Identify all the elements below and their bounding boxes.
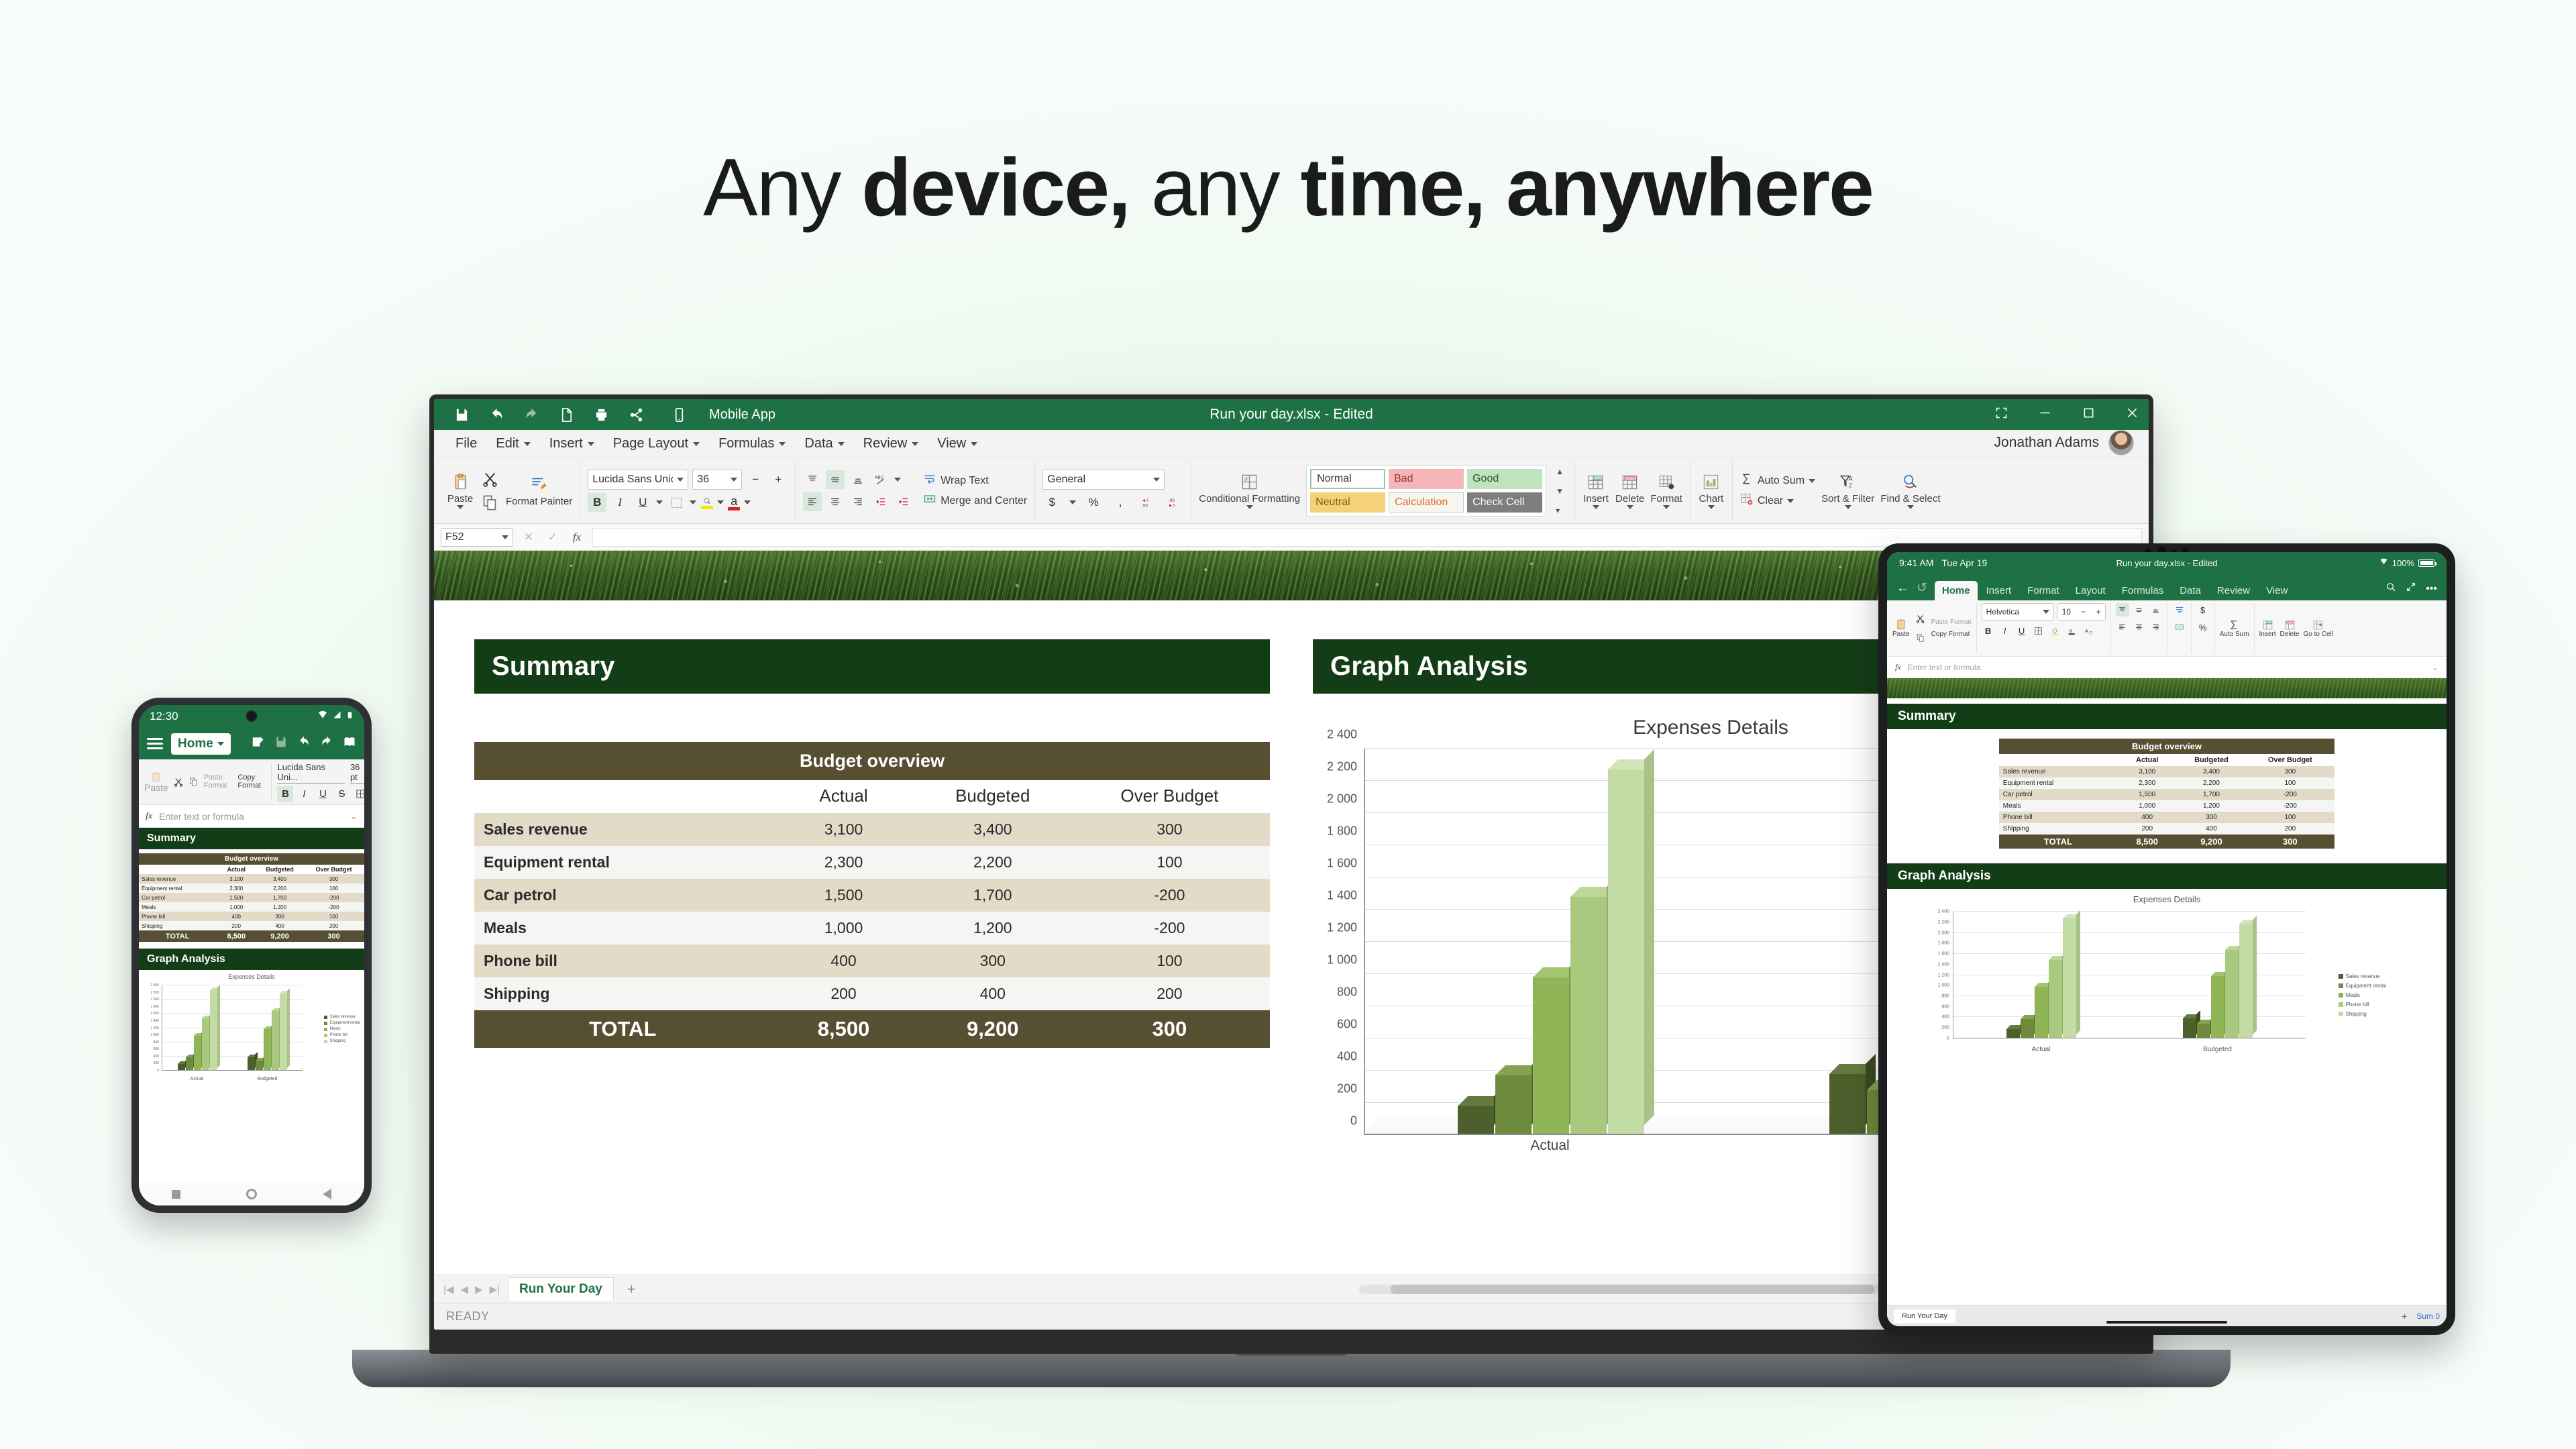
number-format-value: General — [1047, 474, 1085, 486]
menu-formulas[interactable]: Formulas — [710, 433, 794, 454]
edit-mode-icon[interactable] — [252, 735, 265, 752]
chevron-down-icon[interactable] — [656, 500, 663, 504]
headline-part-1: Any — [703, 142, 861, 233]
mobile-icon[interactable] — [670, 406, 688, 423]
style-good[interactable]: Good — [1467, 469, 1542, 489]
undo-icon[interactable] — [297, 735, 311, 752]
tablet-fx-icon[interactable]: fx — [1895, 662, 1901, 672]
tablet-table-row: Shipping200400200 — [1999, 823, 2334, 835]
total-actual: 8,500 — [771, 1010, 916, 1048]
tablet-fill-color-icon[interactable] — [2049, 624, 2062, 637]
bold-button[interactable]: B — [588, 493, 606, 512]
delete-cells-button[interactable]: Delete — [1615, 472, 1644, 510]
cell-over: -200 — [1069, 912, 1270, 945]
more-icon[interactable]: ••• — [2426, 583, 2437, 595]
tablet-cut-icon[interactable] — [1914, 612, 1927, 626]
tablet-font-size-stepper[interactable]: 10 − + — [2057, 603, 2106, 621]
chevron-down-icon[interactable] — [690, 500, 696, 504]
summary-section-header: Summary — [474, 639, 1270, 694]
y-tick: 2 000 — [1937, 930, 1949, 935]
find-select-icon — [1900, 472, 1921, 492]
phone-expenses-chart: Expenses Details 2 400 2 200 2 000 1 800… — [139, 973, 364, 1091]
insert-cells-label: Insert — [1583, 494, 1609, 504]
tablet-font-family-select[interactable]: Helvetica — [1982, 603, 2054, 621]
style-calculation[interactable]: Calculation — [1389, 492, 1464, 513]
undo-icon[interactable] — [488, 406, 505, 423]
auto-sum-label: Auto Sum — [1758, 475, 1805, 487]
last-sheet-icon[interactable]: ▶| — [490, 1283, 500, 1295]
cell-budgeted: 1,200 — [2177, 800, 2245, 812]
menu-icon[interactable] — [147, 738, 163, 749]
y-tick: 1 400 — [1327, 889, 1357, 903]
sheet-nav-arrows[interactable]: |◀ ◀ ▶ ▶| — [443, 1283, 500, 1295]
cell-budgeted: 3,400 — [916, 813, 1069, 846]
paste-icon — [450, 472, 470, 492]
headline-bold-1: device, — [861, 142, 1130, 233]
svg-text:Z: Z — [1849, 482, 1853, 489]
conditional-formatting-button[interactable]: ≠ Conditional Formatting — [1199, 472, 1300, 510]
underline-button[interactable]: U — [633, 493, 652, 512]
phone-underline-button[interactable]: U — [315, 786, 331, 802]
y-tick: 800 — [1337, 985, 1357, 1000]
back-triangle-icon[interactable] — [323, 1189, 331, 1199]
row-label: Phone bill — [474, 945, 771, 977]
phone-chart-legend: Sales revenue Equipment rental Meals Pho… — [324, 1015, 360, 1043]
tablet-underline-button[interactable]: U — [2015, 624, 2029, 637]
total-label: TOTAL — [139, 930, 216, 942]
wifi-icon — [317, 710, 328, 724]
y-tick: 800 — [154, 1040, 159, 1044]
close-icon[interactable] — [2125, 406, 2139, 423]
tablet-autosum-button[interactable]: Auto Sum — [2220, 619, 2249, 638]
cell-actual: 3,100 — [216, 874, 256, 883]
decrease-font-size-button[interactable]: − — [746, 470, 765, 489]
phone-copy-icon[interactable] — [189, 774, 199, 790]
save-icon[interactable] — [274, 735, 288, 752]
mobile-app-label: Mobile App — [709, 407, 775, 423]
chevron-down-icon — [2043, 610, 2049, 614]
chevron-down-icon[interactable]: ⌄ — [2432, 663, 2438, 672]
menu-data-label: Data — [804, 436, 833, 451]
increase-decimal-icon[interactable]: .00►0 — [1165, 493, 1183, 512]
tablet-tab-data[interactable]: Data — [2172, 581, 2208, 600]
style-neutral[interactable]: Neutral — [1310, 492, 1385, 513]
save-icon[interactable] — [453, 406, 470, 423]
row-label: Equipment rental — [139, 883, 216, 893]
tablet-goto-cell-button[interactable]: Go to Cell — [2303, 619, 2332, 638]
merge-center-button[interactable]: Merge and Center — [923, 492, 1027, 509]
menu-edit-label: Edit — [496, 436, 519, 451]
format-cells-button[interactable]: Format — [1650, 472, 1682, 510]
phone-font-family[interactable]: Lucida Sans Uni... — [277, 762, 344, 784]
align-top-icon[interactable] — [803, 470, 822, 489]
menu-edit[interactable]: Edit — [488, 433, 538, 454]
align-right-icon[interactable] — [849, 492, 867, 511]
text-orientation-icon[interactable]: ABC — [871, 470, 890, 489]
total-actual: 8,500 — [2117, 835, 2178, 849]
phone-table-row: Car petrol1,5001,700-200 — [139, 893, 364, 902]
tablet-tab-insert[interactable]: Insert — [1979, 581, 2019, 600]
delete-cells-icon — [1620, 472, 1640, 492]
phone-paste-button[interactable]: Paste — [144, 771, 168, 793]
y-tick: 800 — [1941, 994, 1949, 999]
cut-icon[interactable] — [480, 469, 500, 489]
y-tick: 400 — [1941, 1015, 1949, 1020]
first-sheet-icon[interactable]: |◀ — [443, 1283, 453, 1295]
style-bad[interactable]: Bad — [1389, 469, 1464, 489]
svg-text:ABC: ABC — [875, 475, 884, 480]
undo-icon[interactable]: ↺ — [1917, 580, 1933, 600]
chevron-down-icon — [779, 442, 786, 446]
bar-shipping — [2239, 924, 2253, 1038]
bar-meals — [2035, 987, 2048, 1038]
cell-over: 300 — [303, 874, 364, 883]
phone-table-caption: Budget overview — [139, 853, 364, 865]
tablet-font-size-value: 10 — [2062, 607, 2071, 616]
cell-actual: 1,500 — [2117, 789, 2178, 800]
table-row: Sales revenue 3,100 3,400 300 — [474, 813, 1270, 846]
tablet-chart-title: Expenses Details — [1887, 894, 2447, 904]
tablet-percent-button[interactable]: % — [2196, 621, 2210, 634]
cell-actual: 1,000 — [2117, 800, 2178, 812]
cell-budgeted: 2,200 — [916, 846, 1069, 879]
row-label: Meals — [139, 902, 216, 912]
expand-icon[interactable] — [2406, 582, 2416, 596]
y-tick: 200 — [154, 1061, 159, 1065]
tablet-font-decrease[interactable]: − — [2081, 607, 2086, 616]
cell-budgeted: 400 — [2177, 823, 2245, 835]
phone-borders-icon[interactable] — [352, 786, 364, 802]
total-budgeted: 9,200 — [2177, 835, 2245, 849]
chevron-down-icon[interactable]: ⌄ — [350, 810, 358, 822]
tablet-home-indicator[interactable] — [2106, 1321, 2227, 1324]
number-format-select[interactable]: General — [1042, 470, 1165, 490]
y-tick: 2 400 — [1327, 728, 1357, 742]
tablet-bottom-bar: Run Your Day + Sum 0 — [1887, 1305, 2447, 1326]
insert-cells-button[interactable]: Insert — [1582, 472, 1609, 510]
table-corner — [474, 780, 771, 813]
wrap-text-button[interactable]: Wrap Text — [923, 472, 1027, 489]
phone-status-bar: 12:30 — [139, 705, 364, 728]
tablet-delete-button[interactable]: Delete — [2280, 619, 2300, 638]
row-label: Car petrol — [1999, 789, 2117, 800]
tablet-align-center-icon[interactable] — [2133, 620, 2146, 633]
insert-function-icon[interactable]: fx — [568, 531, 586, 544]
tablet-sum-indicator: Sum 0 — [2416, 1311, 2440, 1321]
chart-icon — [1701, 472, 1721, 492]
italic-button[interactable]: I — [610, 493, 629, 512]
chevron-down-icon[interactable] — [894, 478, 901, 482]
chevron-down-icon — [588, 442, 594, 446]
tablet-formula-input[interactable]: Enter text or formula — [1908, 663, 2425, 672]
phone-copy-format-button[interactable]: Copy Format — [237, 774, 266, 790]
phone-paste-format-button[interactable]: Paste Format — [204, 774, 233, 790]
tablet-insert-button[interactable]: Insert — [2259, 619, 2276, 638]
cell-actual: 400 — [216, 912, 256, 921]
row-label: Equipment rental — [474, 846, 771, 879]
tablet-align-top-icon[interactable] — [2116, 603, 2129, 616]
y-tick: 2 200 — [1327, 759, 1357, 773]
redo-icon[interactable] — [320, 735, 333, 752]
tablet-add-sheet-button[interactable]: + — [2402, 1311, 2416, 1322]
svg-text:◄0: ◄0 — [1142, 498, 1149, 503]
y-tick: 1 200 — [1327, 921, 1357, 935]
cell-over: 100 — [1069, 945, 1270, 977]
tablet-align-bottom-icon[interactable] — [2149, 603, 2163, 616]
tablet-wrap-text-icon[interactable] — [2173, 603, 2186, 616]
summary-panel: Summary Budget overview Actual Budgeted … — [474, 639, 1270, 1158]
legend-item: Phone bill — [2346, 1002, 2369, 1008]
chevron-down-icon — [677, 478, 684, 482]
cell-over: -200 — [303, 893, 364, 902]
copy-icon[interactable] — [480, 492, 500, 513]
cell-budgeted: 2,200 — [256, 883, 303, 893]
tablet-borders-icon[interactable] — [2032, 624, 2045, 637]
menu-page-layout[interactable]: Page Layout — [605, 433, 708, 454]
tablet-bold-button[interactable]: B — [1982, 624, 1995, 637]
add-sheet-button[interactable]: + — [622, 1281, 641, 1298]
tablet-table-row: Meals1,0001,200-200 — [1999, 800, 2334, 812]
increase-font-size-button[interactable]: + — [769, 470, 788, 489]
cancel-formula-icon[interactable]: ✕ — [520, 531, 537, 544]
font-family-select[interactable]: Lucida Sans Unico — [588, 470, 688, 490]
col-over: Over Budget — [1069, 780, 1270, 813]
tablet-copy-format-button[interactable]: Copy Format — [1931, 631, 1972, 638]
prev-sheet-icon[interactable]: ◀ — [460, 1283, 468, 1295]
sheet-tab-run-your-day[interactable]: Run Your Day — [508, 1277, 614, 1301]
menu-file[interactable]: File — [447, 433, 485, 454]
search-icon[interactable] — [2385, 582, 2396, 596]
bar-equipment-rental — [186, 1057, 193, 1071]
clear-button[interactable]: Clear — [1740, 492, 1815, 509]
tablet-align-right-icon[interactable] — [2149, 620, 2163, 633]
tablet-copy-icon[interactable] — [1914, 631, 1927, 645]
tablet-goto-cell-label: Go to Cell — [2303, 631, 2332, 638]
bar-sales-revenue — [1829, 1074, 1866, 1135]
bar-sales-revenue — [2183, 1018, 2196, 1038]
gallery-down-icon[interactable]: ▼ — [1556, 486, 1564, 496]
phone-summary-header: Summary — [139, 828, 364, 849]
ribbon-group-styles: ≠ Conditional Formatting Normal Bad Good… — [1191, 462, 1575, 520]
tablet-table-row: Sales revenue3,1003,400300 — [1999, 766, 2334, 777]
cell-over: 200 — [1069, 977, 1270, 1010]
phone-col-budgeted: Budgeted — [256, 865, 303, 874]
comma-button[interactable]: , — [1111, 493, 1130, 512]
sigma-icon — [1740, 472, 1754, 489]
currency-button[interactable]: $ — [1042, 493, 1061, 512]
back-arrow-icon[interactable]: ← — [1896, 581, 1915, 600]
phone-tab-home-label: Home — [178, 737, 213, 751]
ribbon-group-font: Lucida Sans Unico 36 − + B — [580, 462, 796, 520]
print-icon[interactable] — [592, 406, 610, 423]
redo-icon[interactable] — [523, 406, 540, 423]
decrease-indent-icon[interactable] — [871, 492, 890, 511]
tablet-col-budgeted: Budgeted — [2177, 754, 2245, 766]
cell-budgeted: 1,700 — [2177, 789, 2245, 800]
tablet-budget-table: Budget overview Actual Budgeted Over Bud… — [1999, 739, 2334, 849]
phone-table-row: Shipping200400200 — [139, 921, 364, 930]
col-actual: Actual — [771, 780, 916, 813]
wifi-icon — [2379, 557, 2388, 568]
menu-review[interactable]: Review — [855, 433, 927, 454]
row-label: Phone bill — [139, 912, 216, 921]
restore-icon[interactable] — [2082, 406, 2096, 423]
tablet-tab-home[interactable]: Home — [1935, 581, 1978, 600]
phone-cut-icon[interactable] — [173, 774, 184, 790]
chart-y-axis: 0 200 400 600 800 1 000 1 200 1 400 1 60… — [1313, 749, 1361, 1135]
next-sheet-icon[interactable]: ▶ — [475, 1283, 483, 1295]
y-tick: 0 — [157, 1069, 159, 1073]
total-over: 300 — [303, 930, 364, 942]
tablet-font-color-icon[interactable]: a — [2065, 624, 2079, 637]
decrease-decimal-icon[interactable]: ◄0.00 — [1138, 493, 1157, 512]
phone-graph-header: Graph Analysis — [139, 949, 364, 970]
svg-text:►0: ►0 — [1169, 504, 1176, 508]
tablet-sheet-tab[interactable]: Run Your Day — [1894, 1309, 1955, 1323]
phone-italic-button[interactable]: I — [296, 786, 312, 802]
style-check-cell[interactable]: Check Cell — [1467, 492, 1542, 513]
name-box-value: F52 — [445, 531, 464, 543]
chevron-down-icon — [693, 442, 700, 446]
tablet-tab-view[interactable]: View — [2259, 581, 2295, 600]
row-label: Meals — [474, 912, 771, 945]
share-icon[interactable] — [627, 406, 645, 423]
cell-over: 200 — [303, 921, 364, 930]
delete-cells-label: Delete — [1615, 494, 1644, 504]
avatar[interactable] — [2108, 430, 2134, 455]
legend-item: Phone bill — [330, 1033, 347, 1037]
phone-status-icons — [317, 710, 354, 724]
chevron-down-icon[interactable] — [717, 500, 724, 504]
percent-button[interactable]: % — [1084, 493, 1103, 512]
tablet-tab-review[interactable]: Review — [2210, 581, 2257, 600]
square-icon[interactable] — [172, 1190, 180, 1199]
y-tick: 200 — [1337, 1082, 1357, 1096]
align-center-icon[interactable] — [826, 492, 845, 511]
phone-bold-button[interactable]: B — [277, 786, 293, 802]
cell-budgeted: 400 — [916, 977, 1069, 1010]
font-color-icon[interactable]: a — [728, 495, 740, 511]
accept-formula-icon[interactable]: ✓ — [544, 531, 561, 544]
battery-icon — [346, 710, 354, 724]
align-bottom-icon[interactable] — [849, 470, 867, 489]
chevron-down-icon[interactable] — [744, 500, 751, 504]
tablet-tab-format[interactable]: Format — [2020, 581, 2067, 600]
align-left-icon[interactable] — [803, 492, 822, 511]
menu-data[interactable]: Data — [796, 433, 852, 454]
bar-phone-bill — [2225, 950, 2239, 1038]
format-painter-button[interactable]: Format Painter — [506, 475, 572, 507]
wrap-text-icon — [923, 472, 936, 489]
tablet-align-middle-icon[interactable] — [2133, 603, 2146, 616]
tablet-clear-format-icon[interactable]: A — [2082, 624, 2096, 637]
gallery-more-icon[interactable]: ▾ — [1556, 506, 1564, 515]
phone-screen: 12:30 Home — [139, 705, 364, 1205]
fullscreen-icon[interactable] — [1994, 406, 2008, 423]
row-label: Sales revenue — [474, 813, 771, 846]
gallery-scroll[interactable]: ▲ ▼ ▾ — [1552, 467, 1567, 515]
tablet-status-icons: 100% — [2379, 557, 2434, 568]
ribbon-group-cells: Insert Delete Format — [1575, 462, 1690, 520]
cell-over: 100 — [2245, 812, 2334, 823]
chevron-down-icon — [1627, 505, 1633, 509]
font-family-value: Lucida Sans Unico — [592, 474, 673, 486]
total-budgeted: 9,200 — [916, 1010, 1069, 1048]
user-name: Jonathan Adams — [1994, 435, 2099, 451]
tablet-merge-icon[interactable] — [2173, 621, 2186, 634]
increase-indent-icon[interactable] — [894, 492, 913, 511]
auto-sum-button[interactable]: Auto Sum — [1740, 472, 1815, 489]
new-file-icon[interactable] — [557, 406, 575, 423]
tablet-tab-formulas[interactable]: Formulas — [2114, 581, 2171, 600]
phone-formula-input[interactable]: Enter text or formula — [159, 811, 343, 822]
tablet-font-increase[interactable]: + — [2096, 607, 2101, 616]
font-size-select[interactable]: 36 — [692, 470, 742, 490]
total-actual: 8,500 — [216, 930, 256, 942]
tablet-align-left-icon[interactable] — [2116, 620, 2129, 633]
gallery-up-icon[interactable]: ▲ — [1556, 467, 1564, 476]
chevron-down-icon — [912, 442, 918, 446]
y-tick: 1 000 — [1937, 983, 1949, 988]
chevron-down-icon — [1246, 505, 1253, 509]
x-label-budgeted: Budgeted — [232, 1077, 303, 1081]
phone-fx-icon[interactable]: fx — [146, 811, 152, 822]
paste-button[interactable]: Paste — [447, 472, 474, 510]
tablet-tab-layout[interactable]: Layout — [2068, 581, 2113, 600]
phone-paste-label: Paste — [144, 783, 168, 793]
user-account[interactable]: Jonathan Adams — [1994, 430, 2134, 455]
cell-budgeted: 1,200 — [256, 902, 303, 912]
chevron-down-icon — [1809, 479, 1815, 483]
style-normal[interactable]: Normal — [1310, 469, 1385, 489]
tablet-paste-format-button[interactable]: Paste Format — [1931, 619, 1972, 626]
borders-icon[interactable] — [667, 493, 686, 512]
circle-icon[interactable] — [246, 1189, 257, 1199]
phone-worksheet: Summary Budget overview Actual Budgeted … — [139, 828, 364, 1205]
menu-view[interactable]: View — [929, 433, 985, 454]
tablet-paste-button[interactable]: Paste — [1892, 619, 1910, 638]
name-box[interactable]: F52 — [441, 528, 513, 547]
phone-tab-home[interactable]: Home — [171, 733, 231, 755]
find-select-button[interactable]: Find & Select — [1880, 472, 1940, 510]
bar-meals — [2211, 976, 2224, 1038]
minimize-icon[interactable] — [2038, 406, 2052, 423]
tablet-italic-button[interactable]: I — [1998, 624, 2012, 637]
bar-meals — [1533, 977, 1569, 1135]
menu-insert[interactable]: Insert — [541, 433, 602, 454]
phone-strikethrough-button[interactable]: S — [333, 786, 350, 802]
tablet-currency-button[interactable]: $ — [2196, 603, 2210, 616]
cell-over: -200 — [2245, 789, 2334, 800]
cell-over: -200 — [1069, 879, 1270, 912]
chevron-down-icon[interactable] — [1069, 500, 1076, 504]
menu-review-label: Review — [863, 436, 908, 451]
y-tick: 2 200 — [1937, 920, 1949, 924]
sort-filter-button[interactable]: AZ Sort & Filter — [1821, 472, 1874, 510]
bar-equipment-rental — [2021, 1019, 2034, 1038]
table-row: Equipment rental 2,300 2,200 100 — [474, 846, 1270, 879]
phone-font-size[interactable]: 36 pt — [350, 762, 364, 784]
chart-button[interactable]: Chart — [1698, 472, 1725, 510]
cell-over: -200 — [303, 902, 364, 912]
read-mode-icon[interactable] — [343, 735, 356, 752]
align-middle-icon[interactable] — [826, 470, 845, 489]
paste-label: Paste — [447, 494, 473, 504]
phone-chart-y-axis: 2 400 2 200 2 000 1 800 1 600 1 400 1 20… — [143, 985, 160, 1071]
phone-nav-bar — [139, 1183, 364, 1205]
fill-color-icon[interactable] — [700, 496, 713, 509]
bar-equipment-rental — [2197, 1024, 2210, 1038]
